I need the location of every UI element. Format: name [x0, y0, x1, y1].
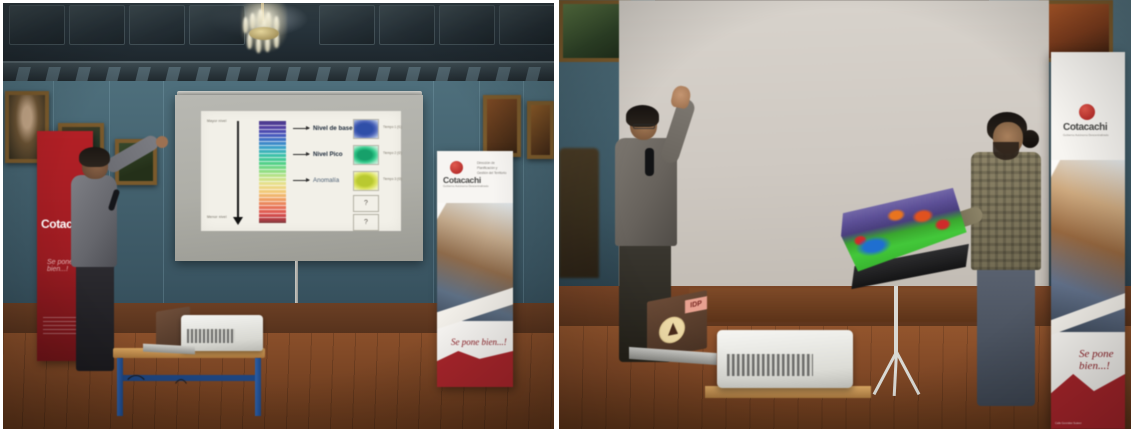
wall-painting — [483, 95, 521, 157]
slide-axis-arrow — [237, 121, 239, 221]
banner-subtitle: Gobierno Autónomo Descentralizado — [443, 184, 489, 188]
banner-subtitle: Gobierno Autónomo Descentralizado — [1063, 133, 1109, 137]
legend-arrow-icon — [293, 154, 309, 155]
cotacachi-logo-icon — [450, 161, 463, 174]
banner-tagline: Dirección de Planificación y Gestión del… — [477, 161, 509, 175]
banner-photo-montage — [1051, 160, 1125, 332]
glasses-icon — [633, 124, 655, 129]
model-holder-beard — [993, 142, 1019, 160]
banner-script-tagline: Se pone bien...! — [1079, 348, 1125, 372]
legend-arrow-icon — [293, 128, 309, 129]
presentation-slide: Mayor nivel Menor nivel — [201, 111, 401, 231]
table-leg — [255, 358, 261, 416]
presenter-hand — [156, 136, 168, 148]
map-thumbnail-note: Tiempo 1 (t1) — [383, 125, 402, 129]
right-photo-panel: IDP Cotacachi Gobierno Autónomo Descentr… — [559, 0, 1131, 429]
presenter-torso — [71, 175, 117, 267]
banner-chevron-graphic — [1051, 374, 1125, 429]
slide-axis-bottom-label: Menor nivel — [207, 215, 227, 219]
laptop-sticker-triangle-icon — [668, 322, 678, 336]
banner-white-cotacachi: Cotacachi Gobierno Autónomo Descentraliz… — [437, 151, 513, 387]
unknown-box-1: ? — [353, 195, 379, 212]
legend-row-anomalia: Anomalía — [293, 177, 339, 184]
banner-contact-text: Calle González Suárez — [1055, 422, 1082, 425]
projection-screen: Mayor nivel Menor nivel — [175, 95, 423, 261]
power-cable — [171, 379, 191, 425]
legend-arrow-icon — [293, 180, 309, 181]
wall-painting — [527, 101, 554, 159]
banner-script-tagline: Se pone bien...! — [451, 337, 507, 347]
map-thumbnail-note: Tiempo 3 (t3) — [383, 177, 402, 181]
chandelier-hub — [249, 27, 279, 40]
left-photo-panel: Mayor nivel Menor nivel — [3, 3, 554, 429]
map-thumbnail-yellow — [353, 171, 379, 191]
model-holder-legs — [977, 266, 1035, 406]
microphone-icon — [645, 148, 654, 176]
photo-collage: Mayor nivel Menor nivel — [0, 0, 1143, 429]
banner-chevron-graphic — [437, 351, 513, 387]
presenter-legs — [76, 261, 114, 371]
legend-row-nivel-pico: Nivel Pico — [293, 151, 343, 158]
legend-label: Nivel Pico — [313, 151, 343, 158]
model-holder-hair-bun — [1021, 130, 1039, 148]
slide-colorbar — [259, 121, 286, 223]
legend-label: Nivel de base — [313, 125, 353, 132]
unknown-box-2: ? — [353, 214, 379, 231]
banner-cotacachi: Cotacachi Gobierno Autónomo Descentraliz… — [1051, 52, 1125, 429]
banner-brand-name: Cotacachi — [1063, 122, 1107, 133]
legend-row-nivel-de-base: Nivel de base — [293, 125, 353, 132]
map-thumbnail-note: Tiempo 2 (t2) — [383, 151, 402, 155]
laptop-sticker-text: IDP — [685, 296, 707, 313]
screen-tripod-pole — [894, 286, 898, 356]
wooden-chair — [559, 148, 599, 278]
cotacachi-logo-icon — [1079, 104, 1095, 120]
table-leg — [117, 358, 123, 416]
legend-label: Anomalía — [313, 177, 339, 184]
slide-axis-top-label: Mayor nivel — [207, 119, 227, 123]
map-thumbnail-green — [353, 145, 379, 165]
banner-photo-montage — [437, 203, 513, 321]
projector-panel — [187, 329, 235, 343]
slide-axis-arrowhead — [233, 217, 243, 225]
projector-panel — [727, 354, 813, 376]
map-thumbnail-blue — [353, 119, 379, 139]
presenter-hair — [79, 147, 110, 167]
projector — [717, 330, 853, 388]
power-cable — [123, 375, 149, 409]
wood-railing — [689, 288, 1019, 322]
